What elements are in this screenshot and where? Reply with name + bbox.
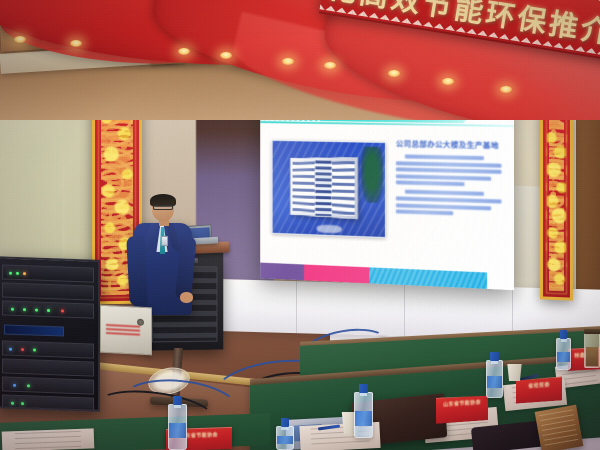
presentation-slide: 公司介绍 S D M 山东德美 SDM 公司总部办公大楼及生产 xyxy=(260,91,514,290)
ceiling-spotlight-6 xyxy=(324,62,336,69)
ceiling-spotlight-9 xyxy=(500,86,512,93)
slide-text-column: 公司总部办公大楼及生产基地 xyxy=(396,138,502,222)
ceiling-spotlight-2 xyxy=(70,40,82,47)
presenter-badge xyxy=(161,236,168,246)
name-card-text: 省经贸委 xyxy=(516,381,562,391)
footer-block-pink xyxy=(304,265,369,284)
slide-paragraph-1 xyxy=(396,154,502,187)
wooden-object xyxy=(535,405,584,450)
table-name-card: 省经贸委 xyxy=(516,376,562,403)
ceiling-spotlight-3 xyxy=(178,48,190,55)
ornate-gold-scroll-panel-right xyxy=(540,109,573,300)
photo-walkway xyxy=(317,225,342,234)
water-bottle xyxy=(556,330,571,370)
slide-building-photo: SDM xyxy=(272,140,386,238)
ceiling-spotlight-4 xyxy=(220,52,232,59)
audio-video-equipment-rack xyxy=(0,256,100,412)
building-roof-sign: SDM xyxy=(280,140,293,141)
water-bottle xyxy=(168,396,187,450)
presenter-hand xyxy=(180,292,193,303)
ceiling-spotlight-1 xyxy=(14,36,26,43)
photo-side-tree xyxy=(361,147,383,203)
ceiling-spotlight-8 xyxy=(442,78,454,85)
water-bottle xyxy=(276,418,294,450)
slide-body-title: 公司总部办公大楼及生产基地 xyxy=(396,138,502,151)
projection-screen: 公司介绍 S D M 山东德美 SDM 公司总部办公大楼及生产 xyxy=(260,91,514,290)
presenter-arm-left xyxy=(126,236,148,307)
footer-block-white xyxy=(487,273,514,291)
presenter-glasses xyxy=(153,205,173,210)
wall-mounted-control-box xyxy=(100,305,152,356)
water-bottle xyxy=(486,352,503,398)
table-name-card: 山东省节能协会 xyxy=(436,394,488,424)
document-paper xyxy=(2,428,95,450)
ceiling-spotlight-7 xyxy=(388,70,400,77)
control-box-knob[interactable] xyxy=(137,319,144,326)
scroll-swirl-overlay xyxy=(549,119,564,292)
ceiling-spotlight-5 xyxy=(282,58,294,65)
slide-paragraph-2 xyxy=(396,190,502,217)
control-box-label xyxy=(106,324,140,338)
name-card-text: 山东省节能协会 xyxy=(436,399,488,410)
rack-display-panel xyxy=(4,324,64,336)
glass-tea-jar xyxy=(584,332,600,368)
water-bottle xyxy=(354,384,373,438)
conference-hall-photo: 公司介绍 S D M 山东德美 SDM 公司总部办公大楼及生产 xyxy=(0,0,600,450)
footer-block-purple xyxy=(260,263,304,281)
